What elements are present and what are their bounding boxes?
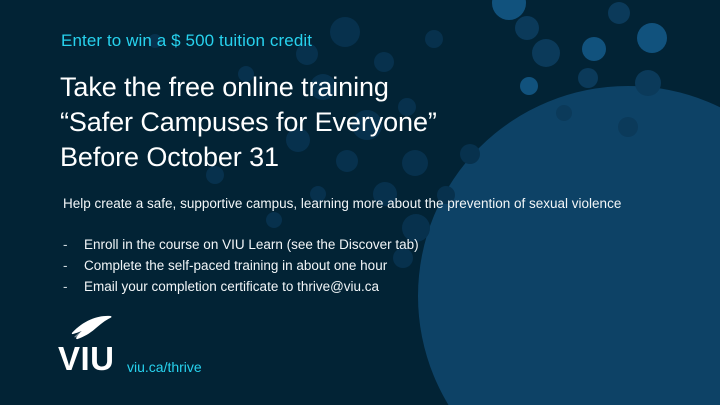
promo-slide: Enter to win a $ 500 tuition credit Take… [0,0,720,405]
intro-paragraph: Help create a safe, supportive campus, l… [63,195,643,213]
instruction-list: - Enroll in the course on VIU Learn (see… [63,234,643,297]
list-item-label: Complete the self-paced training in abou… [84,255,387,276]
bullet-marker: - [63,276,84,297]
list-item: - Complete the self-paced training in ab… [63,255,643,276]
viu-wordmark: VIU [58,342,115,376]
slide-content: Enter to win a $ 500 tuition credit Take… [0,0,720,405]
page-title: Take the free online training “Safer Cam… [60,70,620,175]
thrive-url-link[interactable]: viu.ca/thrive [127,359,202,375]
eyebrow-text: Enter to win a $ 500 tuition credit [61,31,312,51]
list-item: - Email your completion certificate to t… [63,276,643,297]
title-line-3: Before October 31 [60,140,620,175]
list-item: - Enroll in the course on VIU Learn (see… [63,234,643,255]
title-line-2: “Safer Campuses for Everyone” [60,105,620,140]
title-line-1: Take the free online training [60,70,620,105]
viu-logo: VIU [58,315,115,376]
bullet-marker: - [63,255,84,276]
bullet-marker: - [63,234,84,255]
viu-leaf-icon [64,315,112,341]
list-item-label: Email your completion certificate to thr… [84,276,379,297]
list-item-label: Enroll in the course on VIU Learn (see t… [84,234,419,255]
